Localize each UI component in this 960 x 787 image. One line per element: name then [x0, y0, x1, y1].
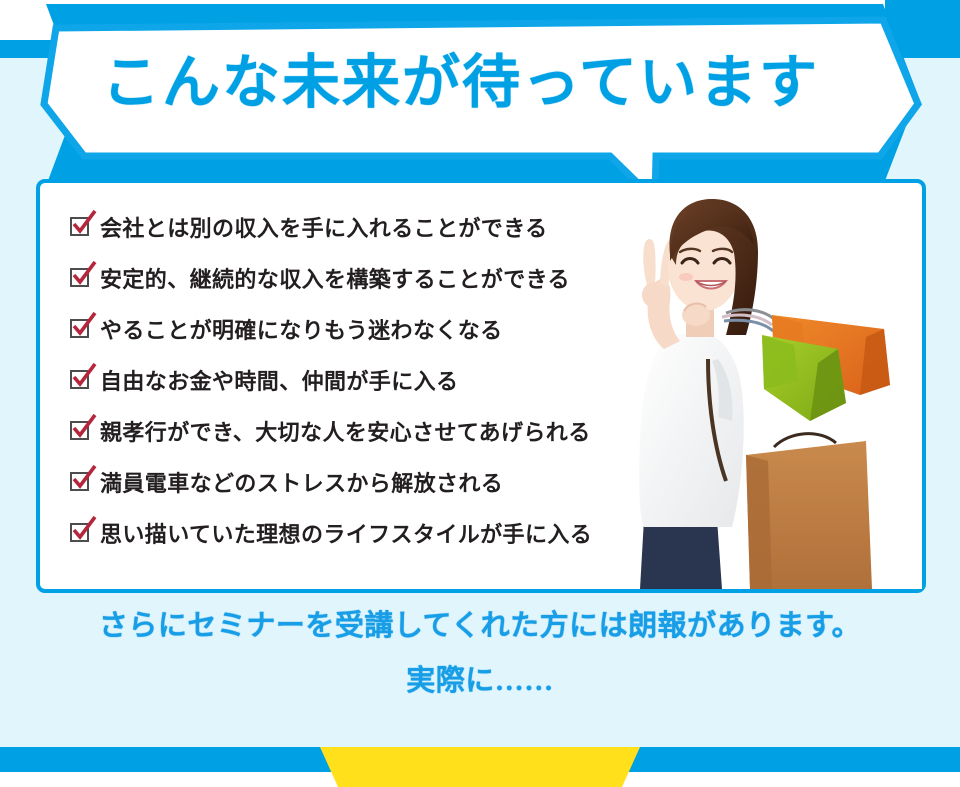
list-item-label: やることが明確になりもう迷わなくなる	[100, 313, 503, 345]
check-icon	[70, 319, 89, 338]
list-item: 親孝行ができ、大切な人を安心させてあげられる	[70, 405, 690, 456]
list-item-label: 会社とは別の収入を手に入れることができる	[100, 211, 548, 243]
list-item: 自由なお金や時間、仲間が手に入る	[70, 354, 690, 405]
list-item: 思い描いていた理想のライフスタイルが手に入る	[70, 507, 690, 558]
bottom-copy-line-1: さらにセミナーを受講してくれた方には朗報があります。	[0, 612, 960, 641]
check-icon	[70, 472, 89, 491]
page-root: こんな未来が待っています 会社とは別の収入を手に入れることができる 安定的、継	[0, 0, 960, 787]
headline-banner: こんな未来が待っています	[38, 0, 928, 205]
list-item: 安定的、継続的な収入を構築することができる	[70, 252, 690, 303]
list-item: 会社とは別の収入を手に入れることができる	[70, 201, 690, 252]
list-item-label: 満員電車などのストレスから解放される	[100, 466, 503, 498]
down-arrow-icon	[0, 735, 960, 787]
check-icon	[70, 523, 89, 542]
woman-with-shopping-bags-photo	[622, 189, 922, 589]
benefits-checklist: 会社とは別の収入を手に入れることができる 安定的、継続的な収入を構築することがで…	[70, 201, 690, 558]
list-item: 満員電車などのストレスから解放される	[70, 456, 690, 507]
check-icon	[70, 370, 89, 389]
bottom-copy-line-2: 実際に……	[0, 667, 960, 696]
list-item-label: 自由なお金や時間、仲間が手に入る	[100, 364, 458, 396]
check-icon	[70, 217, 89, 236]
list-item-label: 親孝行ができ、大切な人を安心させてあげられる	[100, 415, 591, 447]
list-item-label: 思い描いていた理想のライフスタイルが手に入る	[100, 517, 592, 549]
benefits-panel: 会社とは別の収入を手に入れることができる 安定的、継続的な収入を構築することがで…	[36, 179, 926, 593]
check-icon	[70, 268, 89, 287]
bottom-copy: さらにセミナーを受講してくれた方には朗報があります。 実際に……	[0, 612, 960, 696]
list-item: やることが明確になりもう迷わなくなる	[70, 303, 690, 354]
page-title: こんな未来が待っています	[38, 22, 883, 132]
check-icon	[70, 421, 89, 440]
list-item-label: 安定的、継続的な収入を構築することができる	[100, 262, 570, 294]
